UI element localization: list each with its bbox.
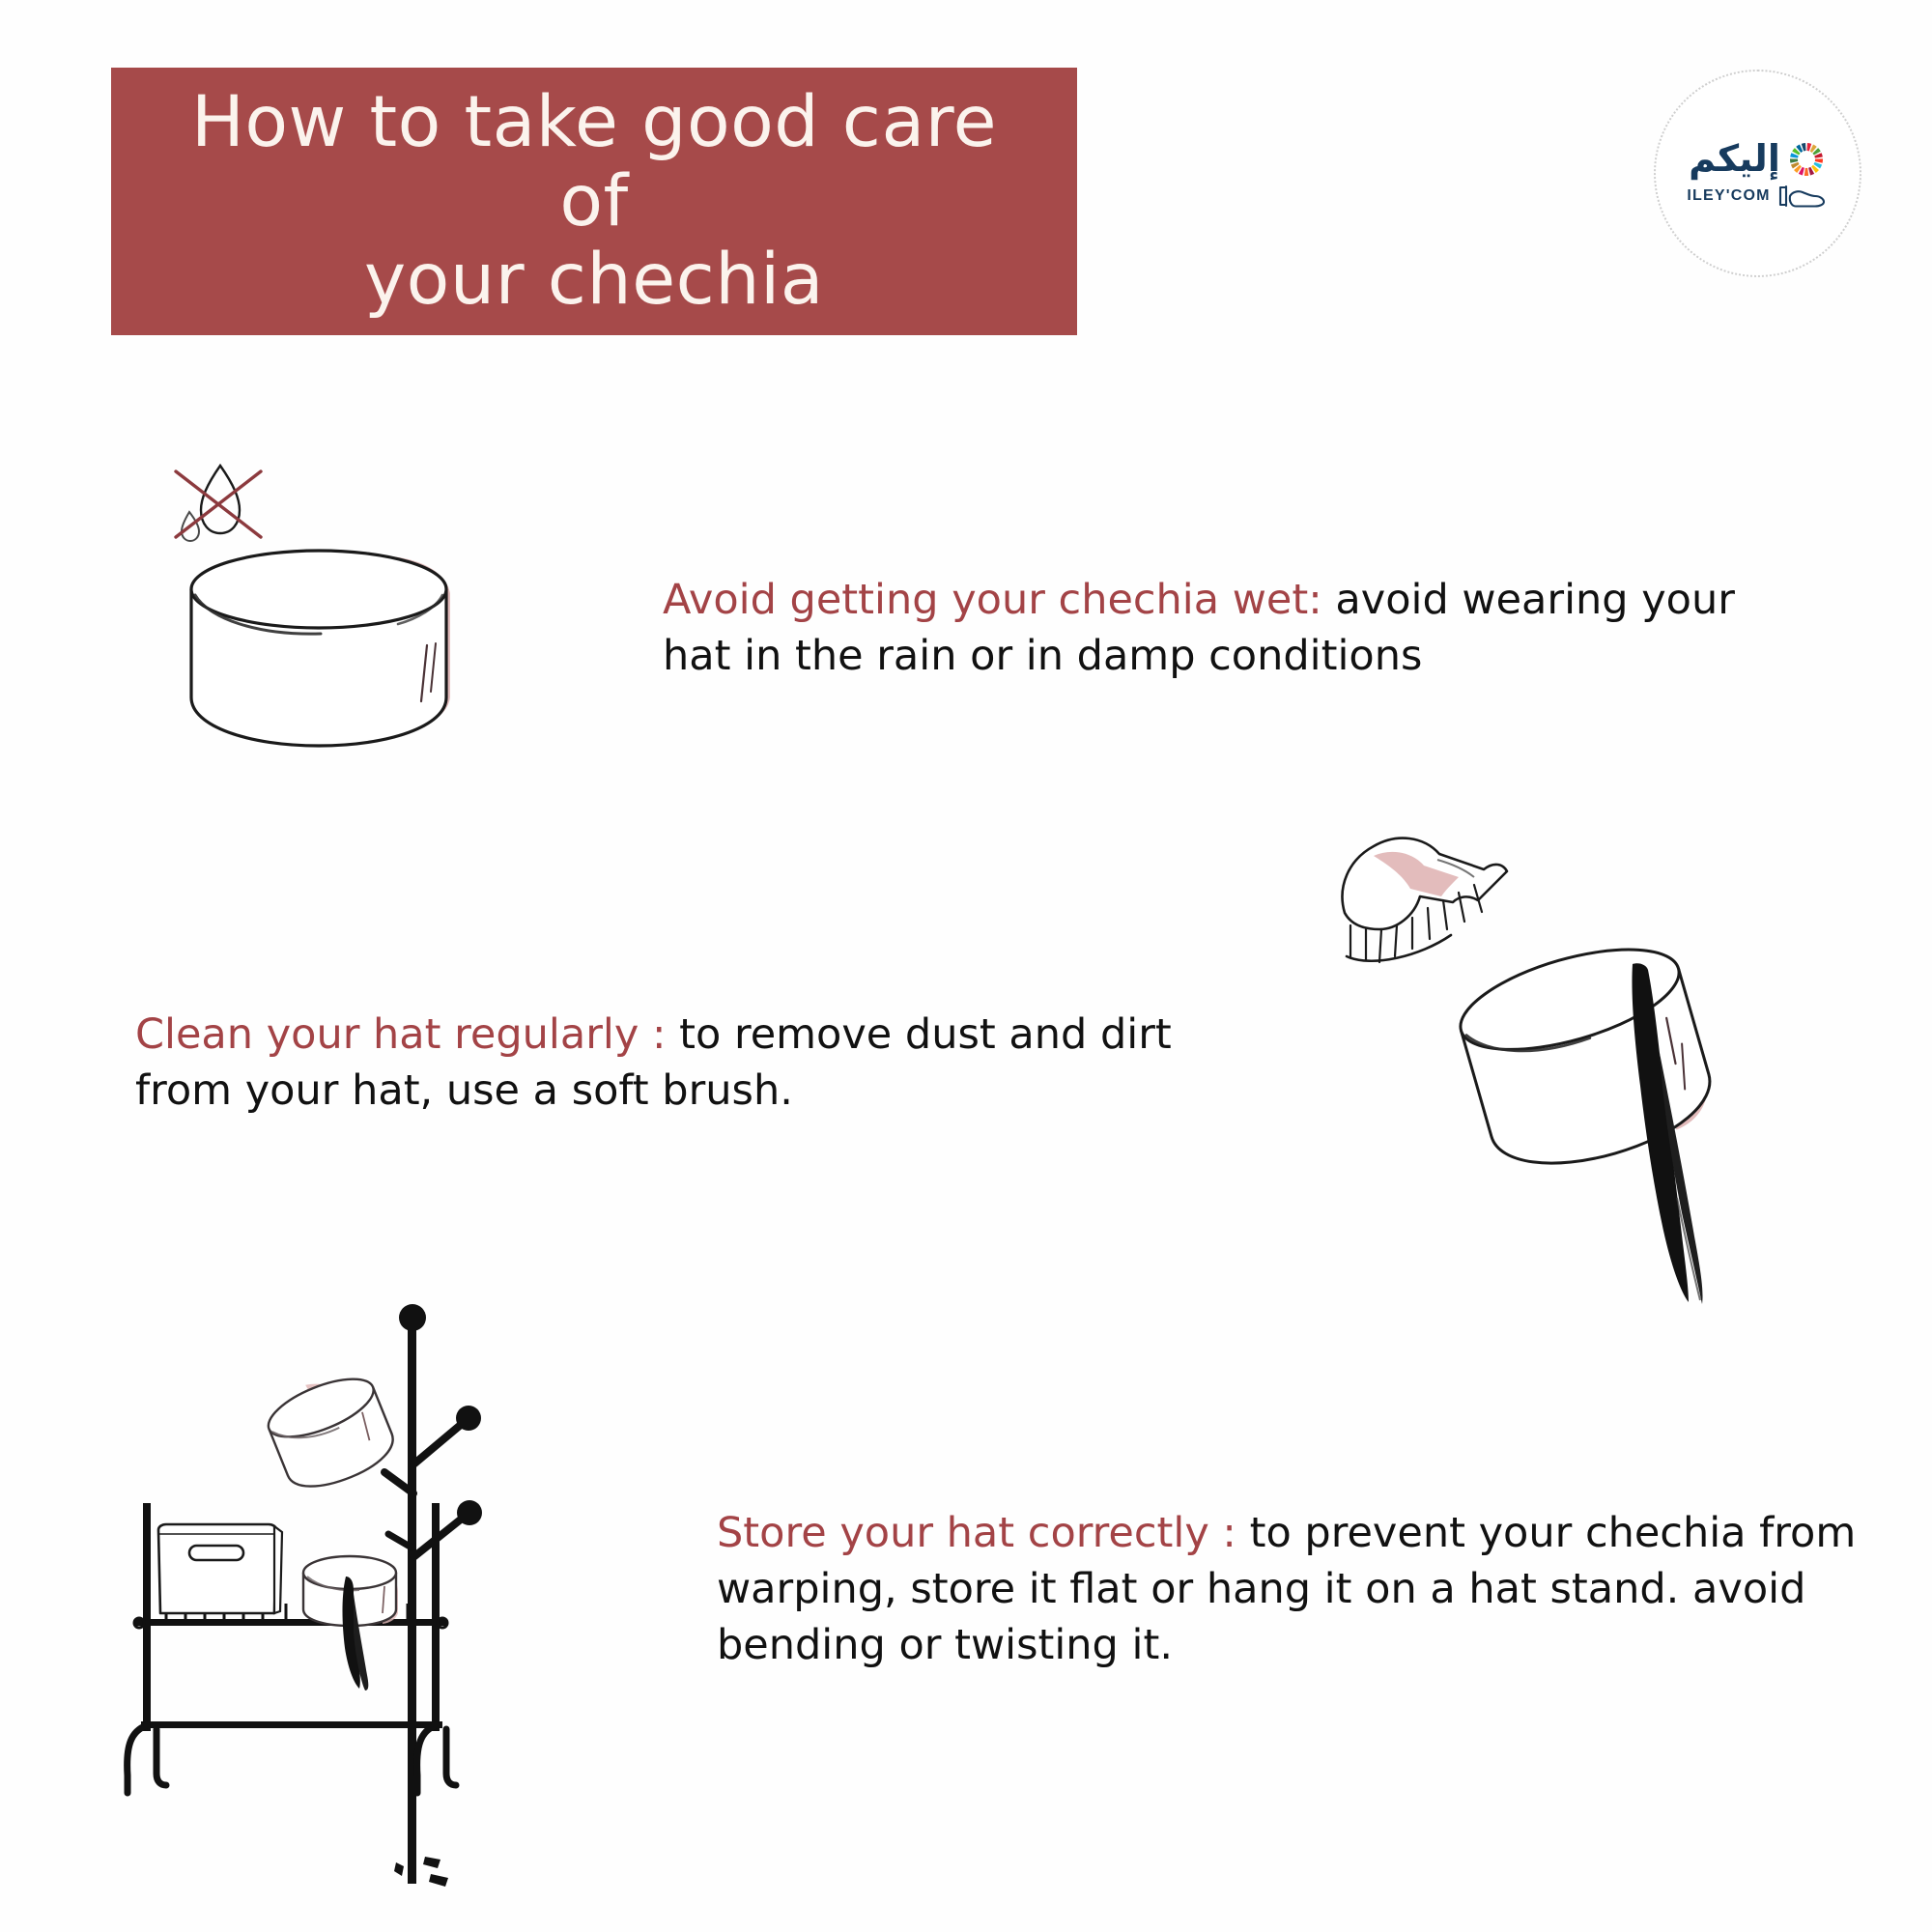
water-droplet-icon	[182, 466, 240, 541]
storage-box-icon	[158, 1524, 282, 1613]
header-banner: How to take good care of your chechia	[111, 68, 1077, 335]
logo-arabic-text: إليكم	[1689, 140, 1780, 177]
chechia-storage-illustration	[106, 1304, 647, 1893]
open-hand-icon	[1776, 184, 1829, 209]
brand-logo[interactable]: إليكم ILEY'COM	[1654, 70, 1861, 277]
chechia-no-water-illustration	[164, 444, 570, 782]
chechia-hat-icon	[1450, 929, 1722, 1184]
tip-heading-clean-regularly: Clean your hat regularly :	[135, 1010, 666, 1059]
cross-out-icon	[176, 471, 261, 537]
soft-brush-icon	[1343, 838, 1507, 962]
tip-text-clean-regularly: Clean your hat regularly : to remove dus…	[135, 1007, 1275, 1119]
chechia-brush-illustration	[1323, 811, 1826, 1314]
chechia-hat-icon	[191, 551, 450, 746]
chechia-hat-icon	[259, 1362, 401, 1499]
tip-heading-avoid-wet: Avoid getting your chechia wet:	[663, 576, 1322, 624]
page-title: How to take good care of your chechia	[111, 83, 1077, 320]
tip-text-store-correctly: Store your hat correctly : to prevent yo…	[717, 1505, 1857, 1673]
sdg-color-wheel-icon	[1786, 139, 1827, 180]
tip-heading-store-correctly: Store your hat correctly :	[717, 1509, 1236, 1557]
tip-text-avoid-wet: Avoid getting your chechia wet: avoid we…	[663, 572, 1764, 684]
logo-latin-text: ILEY'COM	[1687, 187, 1770, 205]
